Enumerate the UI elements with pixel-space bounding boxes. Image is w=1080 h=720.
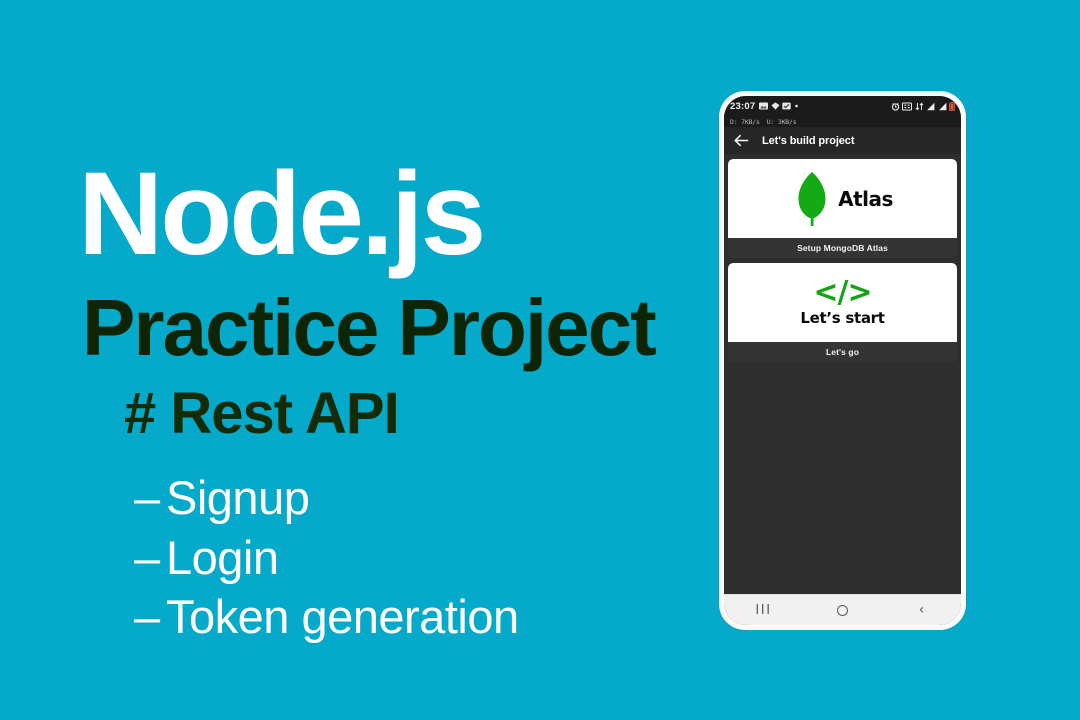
card-label-text: Let's go xyxy=(826,347,859,357)
image-icon xyxy=(759,102,768,110)
list-item: –Token generation xyxy=(134,587,519,647)
app-bar: Let's build project xyxy=(724,127,961,154)
atlas-wordmark: Atlas xyxy=(838,187,893,211)
network-speed-bar: D: 7KB/s U: 3KB/s xyxy=(724,116,961,127)
dot-icon xyxy=(794,102,799,110)
mongodb-atlas-artwork: Atlas xyxy=(728,159,957,238)
battery-icon xyxy=(949,102,955,111)
card-lets-start[interactable]: </> Let’s start Let's go xyxy=(728,263,957,362)
list-item: –Login xyxy=(134,528,519,588)
list-dash: – xyxy=(134,528,166,588)
status-clock: 23:07 xyxy=(730,101,755,112)
android-nav-bar: III ‹ xyxy=(724,594,961,625)
alarm-icon xyxy=(891,102,900,111)
recent-apps-glyph: III xyxy=(755,603,771,618)
diamond-icon xyxy=(771,102,780,110)
status-bar: 23:07 xyxy=(724,96,961,116)
back-icon[interactable]: ‹ xyxy=(903,598,941,622)
app-bar-title: Let's build project xyxy=(762,135,854,147)
list-item-label: Token generation xyxy=(166,590,519,643)
wifi-calling-icon xyxy=(902,102,912,111)
card-label[interactable]: Setup MongoDB Atlas xyxy=(728,238,957,258)
code-brackets-icon: </> xyxy=(813,278,871,308)
status-right-icons xyxy=(891,102,956,111)
list-item-label: Signup xyxy=(166,471,309,524)
signal-bars-2-icon xyxy=(938,102,947,111)
page-subtitle: Practice Project xyxy=(82,288,655,368)
card-label-text: Setup MongoDB Atlas xyxy=(797,243,888,253)
download-speed: D: 7KB/s xyxy=(730,118,760,126)
data-transfer-icon xyxy=(915,102,924,111)
back-glyph: ‹ xyxy=(919,603,925,617)
list-dash: – xyxy=(134,468,166,528)
list-dash: – xyxy=(134,587,166,647)
list-item: –Signup xyxy=(134,468,519,528)
recent-apps-icon[interactable]: III xyxy=(745,598,783,622)
signal-bars-icon xyxy=(926,102,935,111)
home-icon[interactable] xyxy=(824,598,862,622)
mongodb-leaf-icon xyxy=(792,171,832,227)
section-heading: # Rest API xyxy=(124,385,399,443)
status-left-icons xyxy=(759,102,799,110)
page-title: Node.js xyxy=(78,155,483,273)
lets-start-wordmark: Let’s start xyxy=(800,309,884,327)
arrow-left-icon[interactable] xyxy=(733,133,749,149)
code-brackets-artwork: </> Let’s start xyxy=(728,263,957,342)
phone-mockup: 23:07 D: 7KB/s U: 3KB/s xyxy=(719,91,966,630)
feature-list: –Signup –Login –Token generation xyxy=(134,468,519,647)
card-label[interactable]: Let's go xyxy=(728,342,957,362)
promo-panel: Node.js Practice Project # Rest API –Sig… xyxy=(0,0,700,720)
upload-speed: U: 3KB/s xyxy=(767,118,797,126)
list-item-label: Login xyxy=(166,531,279,584)
phone-screen: 23:07 D: 7KB/s U: 3KB/s xyxy=(724,96,961,625)
checkbox-icon xyxy=(782,102,791,110)
home-glyph xyxy=(837,605,848,616)
card-setup-mongodb-atlas[interactable]: Atlas Setup MongoDB Atlas xyxy=(728,159,957,258)
screen-content: Atlas Setup MongoDB Atlas </> Let’s star… xyxy=(724,154,961,594)
